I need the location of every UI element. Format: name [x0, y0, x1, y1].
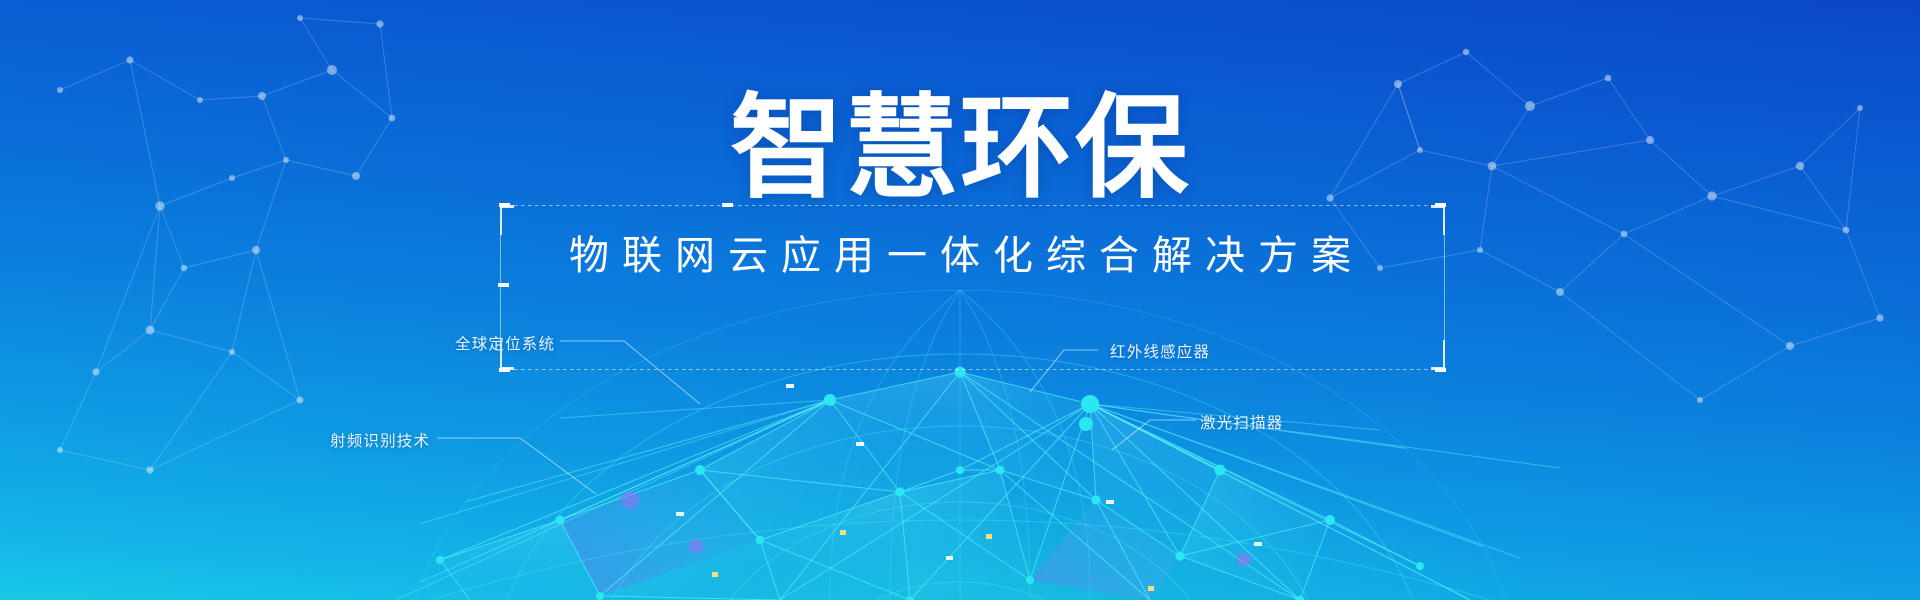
hero-banner: 智慧环保 物联网云应用一体化综合解决方案 全球定位系统 红外线感应器 射频识别技… — [0, 0, 1920, 600]
callout-label-laser-scanner: 激光扫描器 — [1200, 411, 1284, 433]
frame-tick-left-middle — [498, 283, 509, 287]
frame-tick-left-bottom — [499, 368, 510, 372]
page-title: 智慧环保 — [0, 92, 1920, 205]
dashed-bracket-frame-icon — [500, 205, 1445, 370]
frame-corner-top-right — [1415, 205, 1445, 235]
page-subtitle: 物联网云应用一体化综合解决方案 — [0, 232, 1920, 280]
frame-tick-right-bottom — [1435, 368, 1446, 372]
frame-bottom-dashed-line — [500, 369, 1445, 370]
callout-label-infrared-sensor: 红外线感应器 — [1110, 340, 1210, 362]
frame-corner-bottom-right — [1415, 340, 1445, 370]
callout-label-gps: 全球定位系统 — [455, 332, 555, 354]
callout-label-rfid: 射频识别技术 — [330, 429, 430, 451]
frame-corner-top-left — [500, 205, 530, 235]
banner-text-block: 智慧环保 物联网云应用一体化综合解决方案 全球定位系统 红外线感应器 射频识别技… — [0, 0, 1920, 600]
